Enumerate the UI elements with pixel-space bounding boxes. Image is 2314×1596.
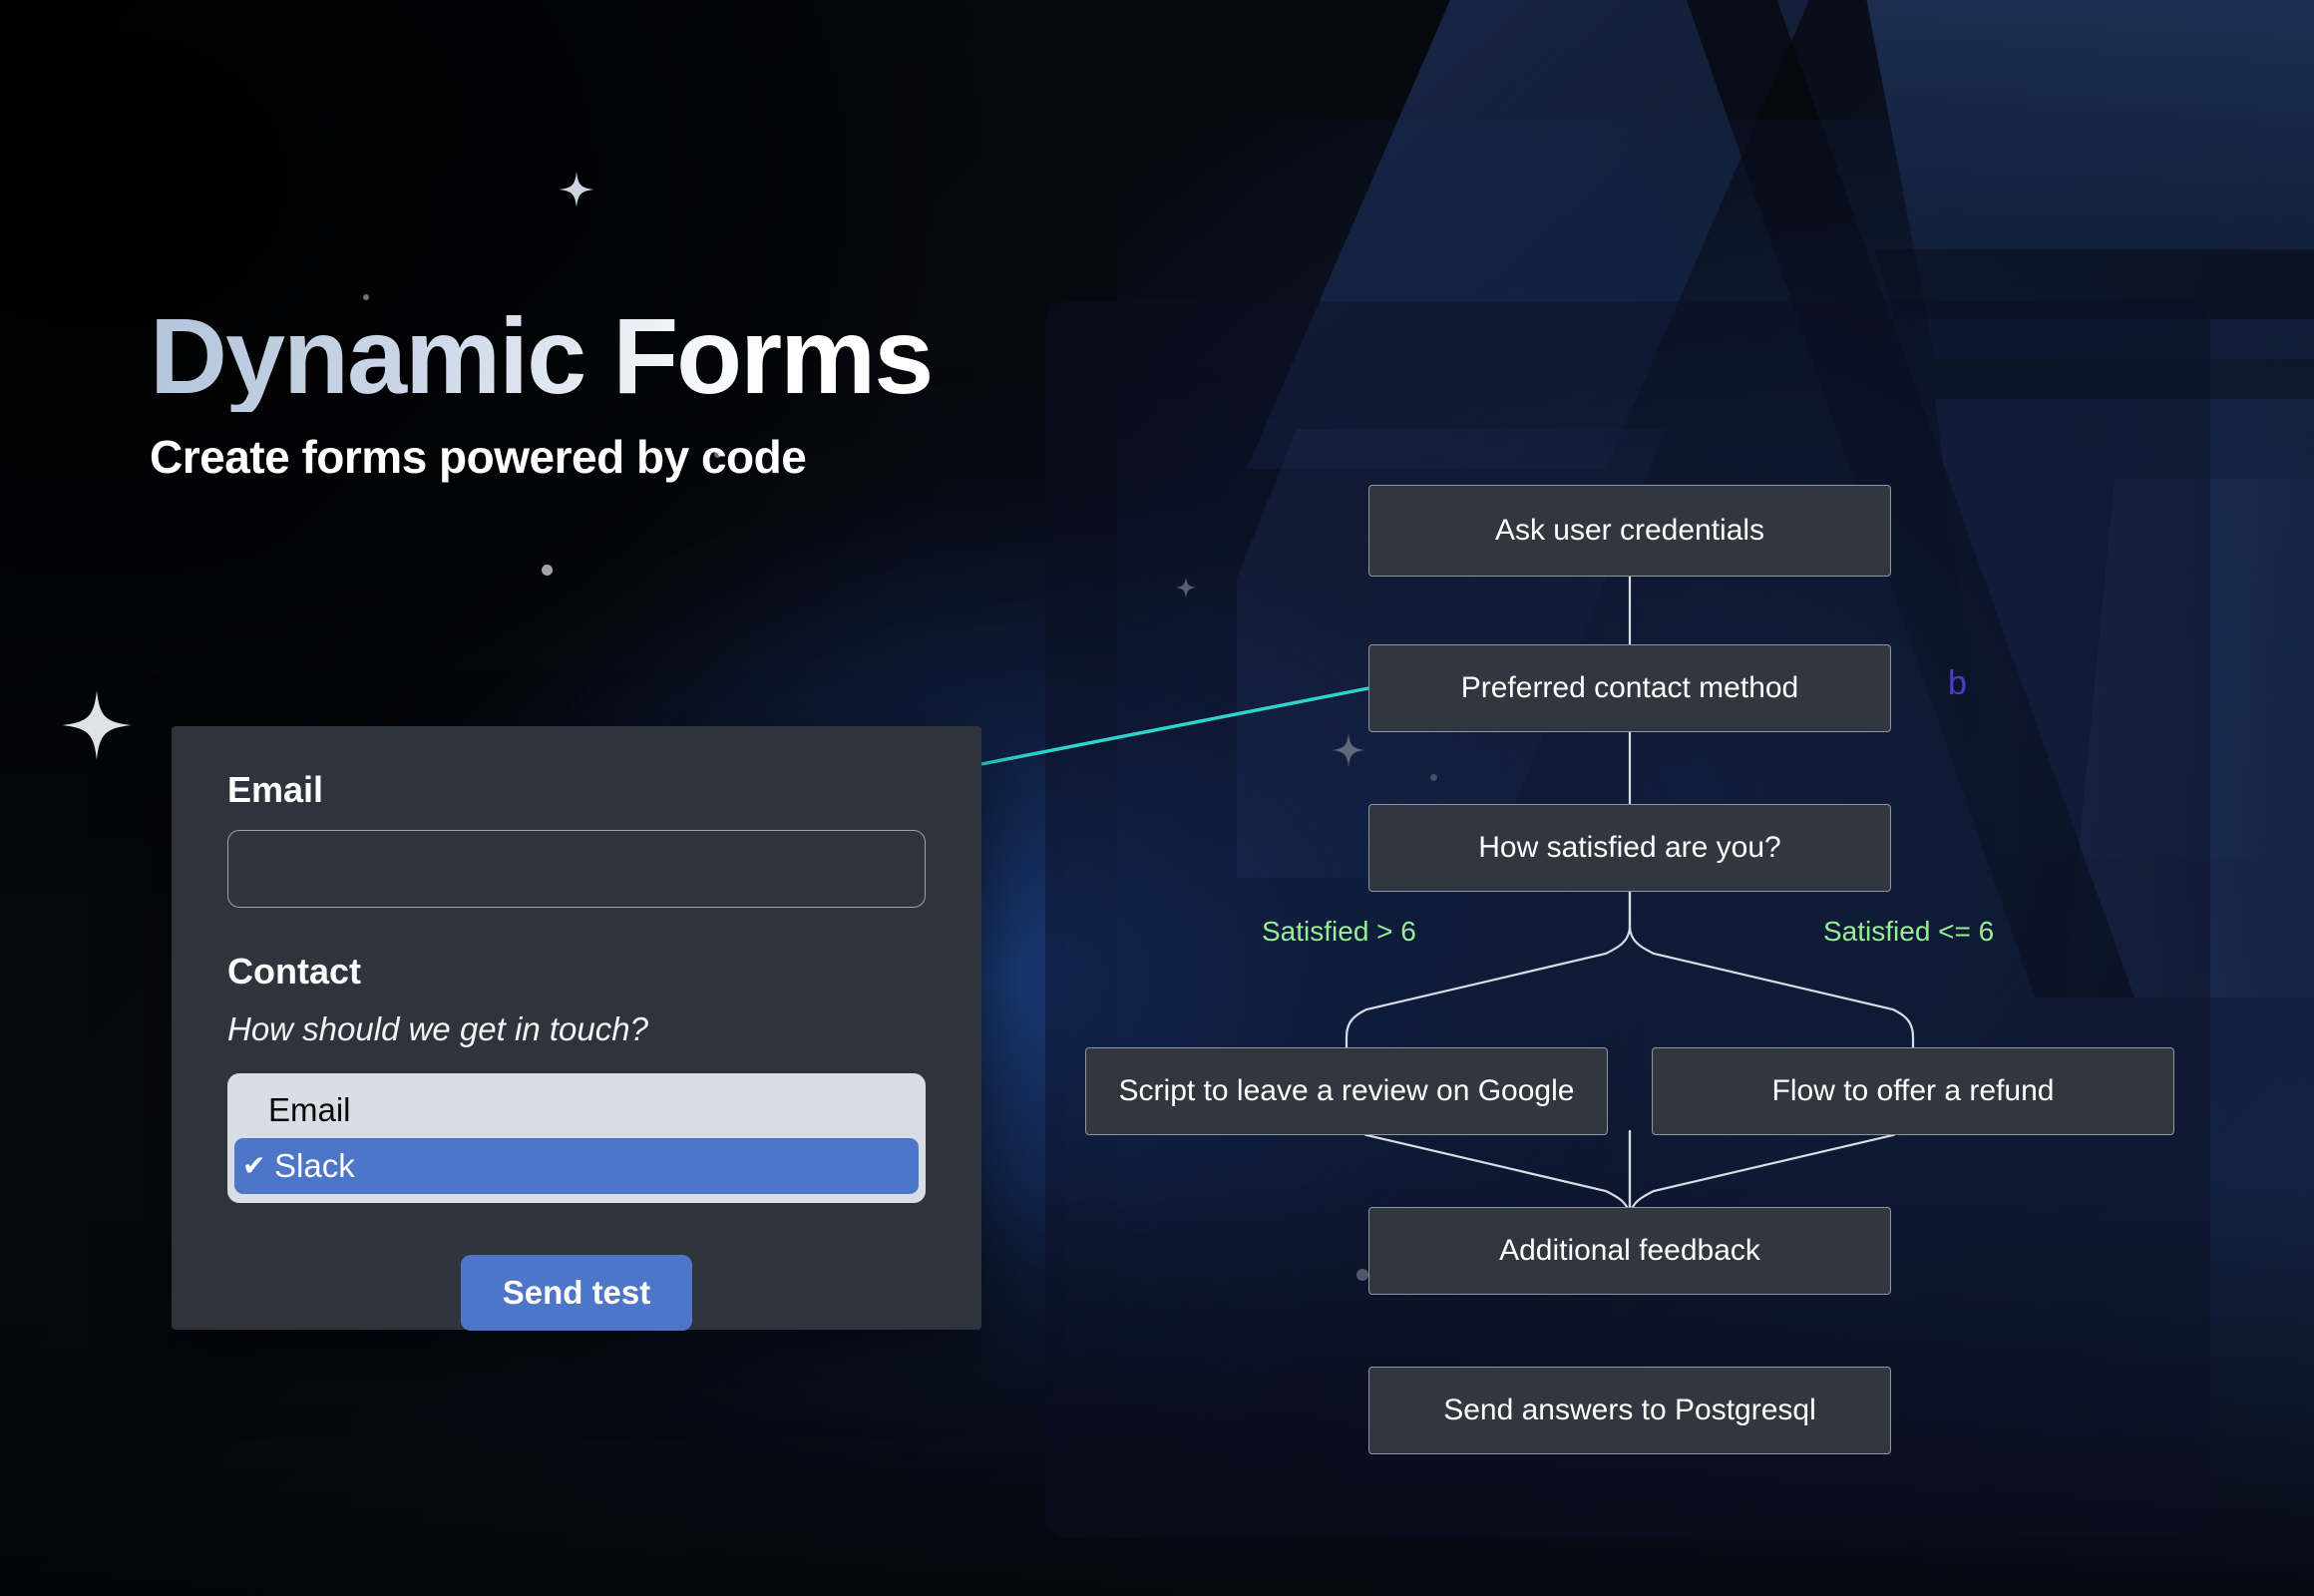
page-title: Dynamic Forms [150, 299, 1147, 412]
flow-node-how-satisfied-are-you[interactable]: How satisfied are you? [1368, 804, 1891, 892]
flow-node-script-to-leave-a-review-on-google[interactable]: Script to leave a review on Google [1085, 1047, 1608, 1135]
decor-glyph: b [1948, 664, 1967, 703]
contact-field-hint: How should we get in touch? [227, 1011, 926, 1047]
branch-label-satisfied-lte-6: Satisfied <= 6 [1823, 916, 1994, 948]
hero-section: Dynamic Forms Create forms powered by co… [150, 299, 1147, 484]
flow-node-label: Flow to offer a refund [1772, 1074, 2055, 1108]
send-test-button[interactable]: Send test [461, 1255, 693, 1331]
email-input[interactable] [227, 830, 926, 908]
flow-node-label: How satisfied are you? [1478, 831, 1781, 865]
flow-node-label: Script to leave a review on Google [1119, 1074, 1575, 1108]
contact-field-label: Contact [227, 954, 926, 990]
flow-node-send-answers-to-postgresql[interactable]: Send answers to Postgresql [1368, 1367, 1891, 1454]
listbox-option-slack[interactable]: ✔ Slack [234, 1138, 919, 1194]
flow-node-label: Additional feedback [1499, 1234, 1760, 1268]
flow-node-preferred-contact-method[interactable]: Preferred contact method [1368, 644, 1891, 732]
flow-node-flow-to-offer-a-refund[interactable]: Flow to offer a refund [1652, 1047, 2174, 1135]
form-preview-card: Email Contact How should we get in touch… [172, 726, 981, 1330]
flow-node-additional-feedback[interactable]: Additional feedback [1368, 1207, 1891, 1295]
contact-method-listbox[interactable]: Email ✔ Slack [227, 1073, 926, 1203]
flow-node-ask-user-credentials[interactable]: Ask user credentials [1368, 485, 1891, 577]
check-icon: ✔ [242, 1152, 272, 1180]
flow-node-label: Send answers to Postgresql [1443, 1394, 1816, 1427]
email-field-label: Email [227, 772, 926, 808]
listbox-option-label: Slack [274, 1147, 355, 1185]
listbox-option-label: Email [268, 1091, 351, 1129]
listbox-option-email[interactable]: Email [234, 1082, 919, 1138]
flow-node-label: Ask user credentials [1495, 514, 1764, 548]
page-subtitle: Create forms powered by code [150, 430, 1147, 484]
flow-node-label: Preferred contact method [1461, 671, 1799, 705]
branch-label-satisfied-gt-6: Satisfied > 6 [1262, 916, 1416, 948]
